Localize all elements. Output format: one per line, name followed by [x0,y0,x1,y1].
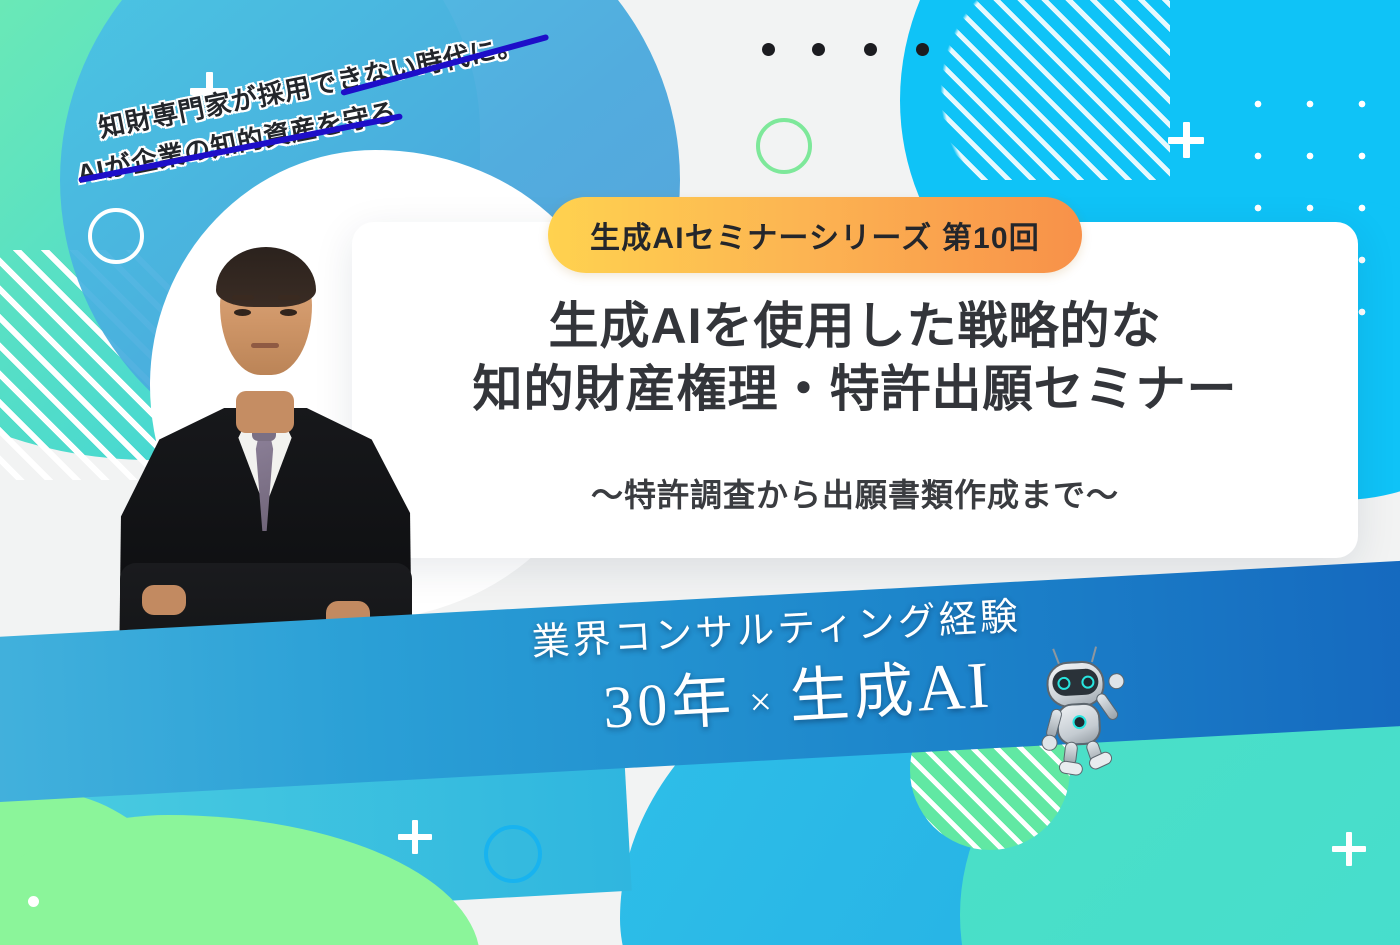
small-dot [28,896,39,907]
banner-times-symbol: × [734,678,791,726]
eye-right [280,309,297,316]
diagonal-hatch-top-right [940,0,1170,180]
title-line-1: 生成AIを使用した戦略的な [352,295,1358,358]
hair [216,247,316,307]
hand-left [142,585,186,615]
cyan-ring-icon [484,825,542,883]
plus-icon [1332,832,1366,866]
eyebrow-right [278,295,300,300]
series-badge: 生成AIセミナーシリーズ 第10回 [548,197,1082,273]
robot-hand-left [1041,734,1058,751]
title-line-2: 知的財産権理・特許出願セミナー [352,358,1358,421]
page-title: 生成AIを使用した戦略的な 知的財産権理・特許出願セミナー [352,295,1358,421]
bottom-banner-text: 業界コンサルティング経験 30年×生成AI [520,582,1088,782]
decor-dot [762,43,775,56]
decor-dot [812,43,825,56]
antenna-right [1091,646,1097,662]
antenna-left [1052,648,1060,664]
page-subtitle: 〜特許調査から出願書類作成まで〜 [352,470,1358,516]
plus-icon [398,820,432,854]
eyebrow-left [232,295,254,300]
neck [236,391,294,433]
decor-dot [864,43,877,56]
plus-icon [1168,122,1204,158]
robot-foot-left [1058,760,1084,777]
robot-hand-right [1108,673,1125,690]
robot-mascot-icon [1027,642,1139,782]
green-ring-icon [756,118,812,174]
decor-dot [916,43,929,56]
banner-ai-label: 生成 [788,658,919,731]
series-badge-label: 生成AIセミナーシリーズ 第10回 [590,213,1040,257]
mouth [251,343,279,348]
banner-years: 30年 [602,668,737,741]
banner-ai-text: AI [915,649,992,726]
eye-left [234,309,251,316]
seminar-banner: 知財専門家が採用できない時代に。 AIが企業の知的資産を守る 株式会社イーコンプ… [0,0,1400,945]
